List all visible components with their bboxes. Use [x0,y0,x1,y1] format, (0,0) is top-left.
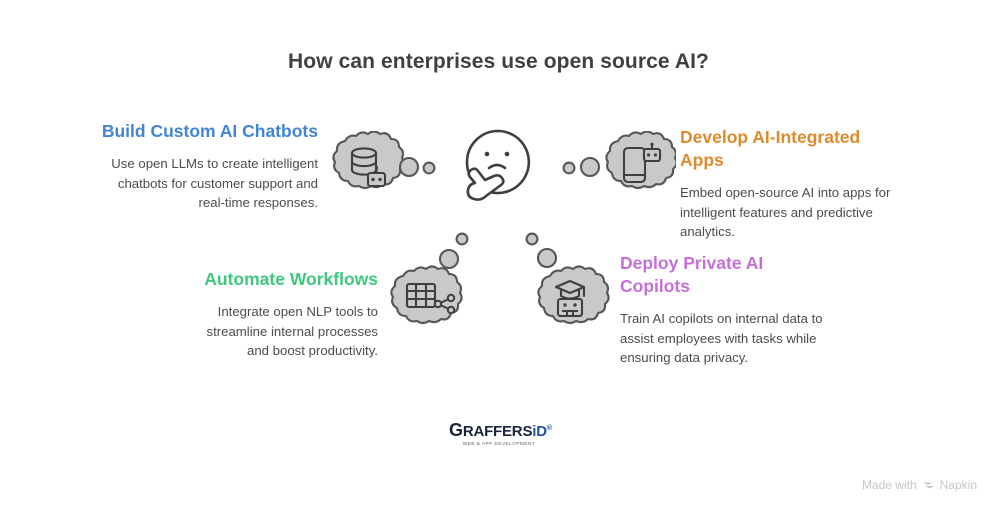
topic-body-apps: Embed open-source AI into apps for intel… [680,183,900,242]
topic-block-chatbots: Build Custom AI Chatbots Use open LLMs t… [96,120,318,213]
logo-wordmark: GRAFFERSiD® [449,421,549,439]
graffersid-logo: GRAFFERSiD® WEB & APP DEVELOPMENT [449,421,549,447]
logo-name-main: RAFFERS [463,423,532,440]
watermark-prefix: Made with [862,478,917,492]
napkin-logo-icon [922,479,935,492]
topic-body-copilots: Train AI copilots on internal data to as… [620,309,826,368]
database-robot-icon [327,131,437,199]
thinking-face-icon [458,126,538,204]
page-title: How can enterprises use open source AI? [0,50,997,74]
mobile-robot-icon [560,131,676,199]
topic-block-copilots: Deploy Private AI Copilots Train AI copi… [620,252,826,368]
topic-heading-chatbots: Build Custom AI Chatbots [96,120,318,143]
watermark-brand: Napkin [940,478,977,492]
topic-heading-workflows: Automate Workflows [186,268,378,291]
logo-name-accent: iD [532,423,547,440]
spreadsheet-share-icon [385,228,485,328]
napkin-watermark: Made with Napkin [862,478,977,492]
logo-trademark: ® [547,425,552,432]
topic-body-workflows: Integrate open NLP tools to streamline i… [186,302,378,361]
topic-block-workflows: Automate Workflows Integrate open NLP to… [186,268,378,361]
graduation-robot-icon [520,228,620,328]
topic-block-apps: Develop AI-Integrated Apps Embed open-so… [680,126,900,242]
logo-tagline: WEB & APP DEVELOPMENT [449,442,549,447]
topic-heading-copilots: Deploy Private AI Copilots [620,252,826,298]
topic-body-chatbots: Use open LLMs to create intelligent chat… [96,154,318,213]
topic-heading-apps: Develop AI-Integrated Apps [680,126,900,172]
logo-name-prefix: G [449,420,463,440]
